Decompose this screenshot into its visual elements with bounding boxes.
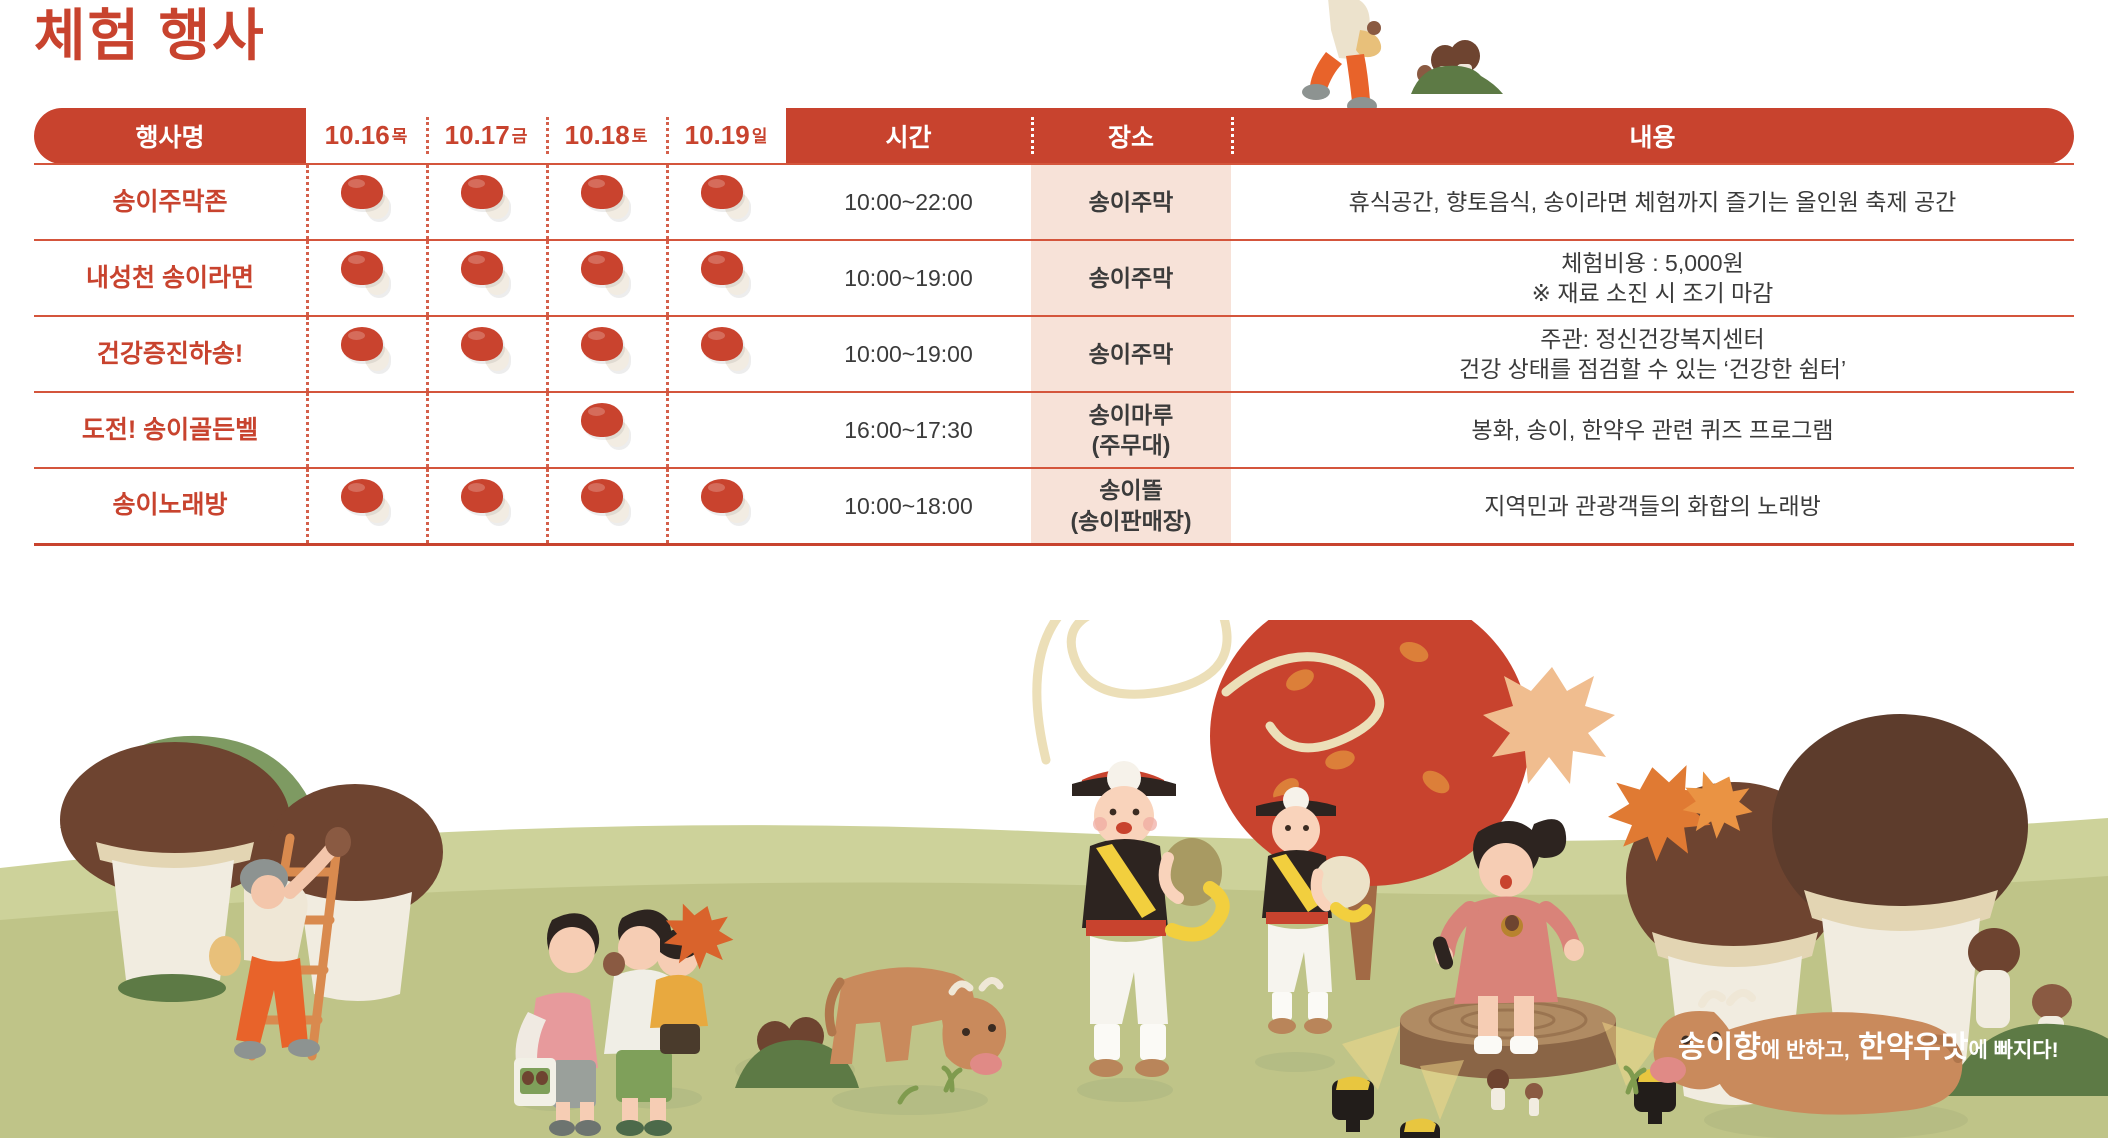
day-marker-active (426, 240, 546, 316)
table-header-row: 행사명 10.16목 10.17금 10.18토 10.19일 시간 장소 (34, 108, 2074, 164)
place-line-1: 송이주막 (1031, 263, 1231, 293)
table-row: 송이노래방10:00~18:00송이뜰(송이판매장)지역민과 관광객들의 화합의… (34, 468, 2074, 544)
page-title: 체험 행사 (34, 8, 266, 64)
header-date-3: 10.18토 (546, 108, 666, 164)
content-line-1: 주관: 정신건강복지센터 (1231, 324, 2074, 354)
mushroom-icon (579, 327, 633, 373)
place-line-2: (주무대) (1031, 430, 1231, 460)
tagline-small-2: 에 빠지다! (1969, 1039, 2059, 1062)
mushroom-icon (459, 251, 513, 297)
content-line-2: 건강 상태를 점검할 수 있는 ‘건강한 쉼터’ (1231, 354, 2074, 384)
header-date-1: 10.16목 (306, 108, 426, 164)
mushroom-icon (459, 175, 513, 221)
header-date-2: 10.17금 (426, 108, 546, 164)
date-3-weekday: 토 (632, 127, 648, 146)
time-cell: 10:00~19:00 (786, 316, 1031, 392)
event-name-cell: 도전! 송이골든벨 (34, 392, 306, 468)
content-line-2: ※ 재료 소진 시 조기 마감 (1231, 278, 2074, 308)
content-cell: 봉화, 송이, 한약우 관련 퀴즈 프로그램 (1231, 392, 2074, 468)
time-cell: 10:00~18:00 (786, 468, 1031, 544)
day-marker-active (546, 164, 666, 240)
mushroom-icon (699, 479, 753, 525)
schedule-table-wrapper: 행사명 10.16목 10.17금 10.18토 10.19일 시간 장소 (34, 108, 2074, 546)
date-2-weekday: 금 (512, 127, 528, 146)
place-line-2: (송이판매장) (1031, 506, 1231, 536)
tagline-big-1: 송이향 (1678, 1031, 1761, 1064)
place-cell: 송이주막 (1031, 240, 1231, 316)
content-cell: 휴식공간, 향토음식, 송이라면 체험까지 즐기는 올인원 축제 공간 (1231, 164, 2074, 240)
place-cell: 송이주막 (1031, 164, 1231, 240)
day-marker-active (546, 316, 666, 392)
date-2-value: 10.17 (445, 120, 510, 150)
date-3-value: 10.18 (565, 120, 630, 150)
day-marker-active (546, 240, 666, 316)
content-line-1: 지역민과 관광객들의 화합의 노래방 (1231, 491, 2074, 521)
day-marker-active (546, 468, 666, 544)
day-marker-active (306, 240, 426, 316)
festival-poster: 체험 행사 행사명 (0, 0, 2108, 1138)
date-4-weekday: 일 (752, 127, 768, 146)
mushroom-icon (339, 175, 393, 221)
day-marker-active (426, 164, 546, 240)
day-marker-active (666, 240, 786, 316)
tagline-small-1: 에 반하고, (1761, 1039, 1850, 1062)
mushroom-icon (579, 251, 633, 297)
table-body: 송이주막존10:00~22:00송이주막휴식공간, 향토음식, 송이라면 체험까… (34, 164, 2074, 544)
day-marker-active (666, 316, 786, 392)
mushroom-icon (459, 479, 513, 525)
header-content: 내용 (1231, 108, 2074, 164)
content-cell: 지역민과 관광객들의 화합의 노래방 (1231, 468, 2074, 544)
header-event-name: 행사명 (34, 108, 306, 164)
place-line-1: 송이주막 (1031, 187, 1231, 217)
mushroom-icon (339, 251, 393, 297)
header-date-4: 10.19일 (666, 108, 786, 164)
time-cell: 16:00~17:30 (786, 392, 1031, 468)
place-line-1: 송이뜰 (1031, 475, 1231, 505)
event-schedule-table: 행사명 10.16목 10.17금 10.18토 10.19일 시간 장소 (34, 108, 2074, 546)
day-marker-active (306, 316, 426, 392)
mushroom-icon (699, 251, 753, 297)
content-line-1: 체험비용 : 5,000원 (1231, 248, 2074, 278)
header-place: 장소 (1031, 108, 1231, 164)
day-marker-empty (426, 392, 546, 468)
date-1-value: 10.16 (325, 120, 390, 150)
content-line-1: 봉화, 송이, 한약우 관련 퀴즈 프로그램 (1231, 415, 2074, 445)
mushroom-icon (579, 403, 633, 449)
table-row: 건강증진하송!10:00~19:00송이주막주관: 정신건강복지센터건강 상태를… (34, 316, 2074, 392)
place-cell: 송이마루(주무대) (1031, 392, 1231, 468)
day-marker-active (666, 468, 786, 544)
place-cell: 송이뜰(송이판매장) (1031, 468, 1231, 544)
content-cell: 체험비용 : 5,000원※ 재료 소진 시 조기 마감 (1231, 240, 2074, 316)
day-marker-active (666, 164, 786, 240)
time-cell: 10:00~22:00 (786, 164, 1031, 240)
place-line-1: 송이주막 (1031, 339, 1231, 369)
table-row: 송이주막존10:00~22:00송이주막휴식공간, 향토음식, 송이라면 체험까… (34, 164, 2074, 240)
mushroom-picker-illustration (1290, 0, 1420, 124)
place-line-1: 송이마루 (1031, 400, 1231, 430)
event-name-cell: 내성천 송이라면 (34, 240, 306, 316)
festival-tagline: 송이향에 반하고, 한약우맛에 빠지다! (1678, 1022, 2059, 1066)
time-cell: 10:00~19:00 (786, 240, 1031, 316)
day-marker-active (306, 164, 426, 240)
mushroom-icon (699, 327, 753, 373)
day-marker-active (426, 468, 546, 544)
day-marker-active (426, 316, 546, 392)
mushroom-bush-illustration (1405, 30, 1515, 96)
place-cell: 송이주막 (1031, 316, 1231, 392)
day-marker-active (546, 392, 666, 468)
mushroom-icon (339, 327, 393, 373)
event-name-cell: 송이주막존 (34, 164, 306, 240)
mushroom-icon (699, 175, 753, 221)
event-name-cell: 건강증진하송! (34, 316, 306, 392)
mushroom-icon (339, 479, 393, 525)
table-row: 도전! 송이골든벨16:00~17:30송이마루(주무대)봉화, 송이, 한약우… (34, 392, 2074, 468)
mushroom-icon (579, 175, 633, 221)
day-marker-empty (306, 392, 426, 468)
tagline-big-2: 한약우맛 (1858, 1031, 1968, 1064)
date-4-value: 10.19 (685, 120, 750, 150)
mushroom-icon (579, 479, 633, 525)
table-row: 내성천 송이라면10:00~19:00송이주막체험비용 : 5,000원※ 재료… (34, 240, 2074, 316)
content-cell: 주관: 정신건강복지센터건강 상태를 점검할 수 있는 ‘건강한 쉼터’ (1231, 316, 2074, 392)
day-marker-empty (666, 392, 786, 468)
event-name-cell: 송이노래방 (34, 468, 306, 544)
mushroom-icon (459, 327, 513, 373)
header-time: 시간 (786, 108, 1031, 164)
day-marker-active (306, 468, 426, 544)
date-1-weekday: 목 (392, 127, 408, 146)
content-line-1: 휴식공간, 향토음식, 송이라면 체험까지 즐기는 올인원 축제 공간 (1231, 187, 2074, 217)
